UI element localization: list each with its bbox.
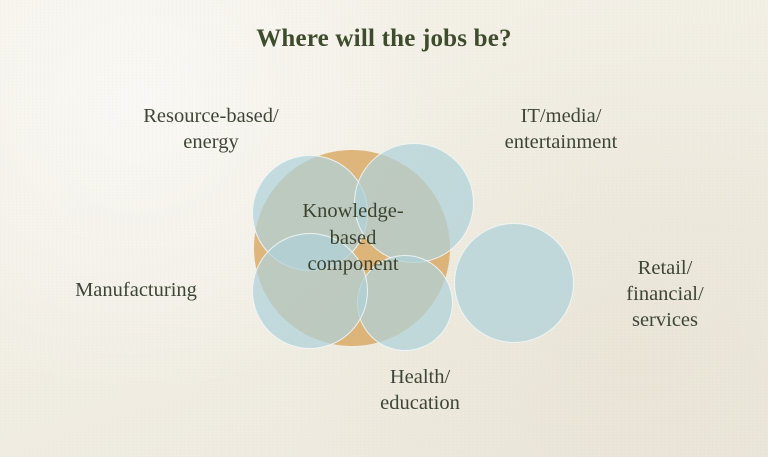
venn-label-resource-energy: Resource-based/ energy [86,104,336,156]
venn-core-label: Knowledge- based component [262,198,444,278]
venn-label-retail-financial-services: Retail/ financial/ services [575,256,755,333]
slide-canvas: Where will the jobs be? Knowledge- based… [0,0,768,457]
venn-label-manufacturing: Manufacturing [20,278,252,304]
venn-lobe-retail-financial-services [454,223,574,343]
venn-label-health-education: Health/ education [325,365,515,417]
venn-label-it-media-entertainment: IT/media/ entertainment [446,104,676,156]
